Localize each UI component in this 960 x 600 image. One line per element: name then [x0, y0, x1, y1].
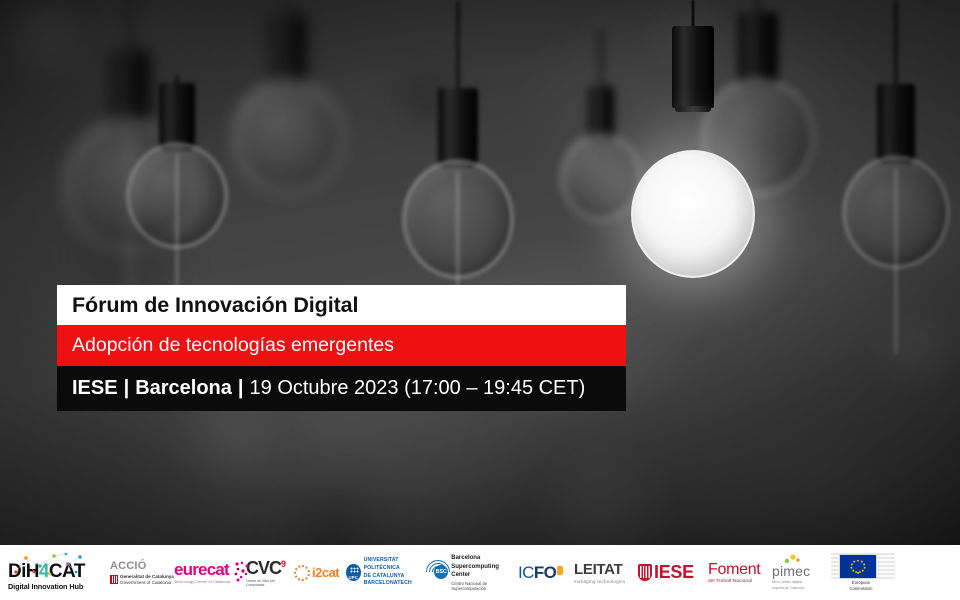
bsc-line1: Barcelona — [451, 554, 518, 562]
bulb-lit — [628, 0, 758, 310]
venue-separator-2: | — [232, 377, 250, 400]
cvc-dots-icon — [234, 561, 252, 583]
upc-badge-icon: UPC — [346, 564, 361, 581]
upc-badge-label: UPC — [346, 575, 361, 580]
bsc-line4: Centro Nacional de Supercomputación — [451, 581, 518, 591]
cvc-superscript: 9 — [281, 559, 285, 569]
logo-dih4cat: DiH4CAT Digital Innovation Hub — [4, 547, 110, 599]
background-photo — [0, 0, 960, 545]
city-name: Barcelona — [135, 377, 232, 400]
accio-line2: Government of Catalonia — [120, 580, 174, 586]
upc-line1: UNIVERSITAT POLITÈCNICA — [364, 557, 426, 572]
pimec-main: pimec — [772, 564, 822, 578]
generalitat-shield-icon — [110, 575, 118, 584]
bsc-line2: Supercomputing — [451, 563, 518, 571]
pimec-dots-icon — [782, 554, 804, 564]
eu-flag-icon — [839, 554, 877, 579]
logo-upc: UPC UNIVERSITAT POLITÈCNICA DE CATALUNYA… — [346, 547, 426, 599]
icfo-photon-icon — [557, 566, 563, 575]
iese-main: IESE — [654, 562, 694, 583]
foment-main: Foment — [708, 562, 772, 578]
leitat-main: LEITAT — [574, 562, 638, 577]
logo-bsc: BSC Barcelona Supercomputing Center Cent… — [426, 547, 518, 599]
foment-tagline: del Treball Nacional — [708, 579, 772, 584]
dih4cat-subtitle: Digital Innovation Hub — [8, 582, 110, 591]
i2cat-main: i2cat — [312, 565, 339, 580]
eurecat-tagline: Technology Centre of Catalonia — [174, 580, 236, 584]
icfo-main-a: IC — [518, 563, 534, 583]
accio-title: ACCIÓ — [110, 560, 174, 572]
upc-line3: BARCELONATECH — [364, 580, 426, 588]
eu-line2: Commission — [849, 586, 872, 592]
logo-leitat: LEITAT managing technologies — [574, 547, 638, 599]
accio-line1: Generalitat de Catalunya — [120, 574, 174, 580]
page-title: Fórum de Innovación Digital — [72, 293, 358, 318]
venue-date-band: IESE | Barcelona | 19 Octubre 2023 (17:0… — [57, 366, 626, 411]
bsc-arcs-icon: BSC — [426, 560, 448, 584]
logo-european-commission: European Commission — [822, 547, 900, 599]
event-datetime: 19 Octubre 2023 (17:00 – 19:45 CET) — [250, 377, 586, 400]
network-constellation-icon — [10, 552, 90, 578]
page-subtitle: Adopción de tecnologías emergentes — [72, 334, 394, 357]
eurecat-main: eureca — [174, 560, 224, 579]
logo-accio: ACCIÓ Generalitat de Catalunya Governmen… — [110, 547, 174, 599]
eurecat-main-accent: t — [224, 560, 229, 579]
logo-foment: Foment del Treball Nacional — [708, 547, 772, 599]
logo-iese: IESE — [638, 547, 708, 599]
bsc-line3: Center — [451, 571, 518, 579]
venue-name: IESE — [72, 377, 118, 400]
logo-i2cat: i2cat — [294, 547, 346, 599]
logo-pimec: pimec Micro, petita i mitjana empresa de… — [772, 547, 822, 599]
event-title-block: Fórum de Innovación Digital Adopción de … — [57, 285, 626, 411]
leitat-tagline: managing technologies — [574, 579, 638, 584]
event-poster: Fórum de Innovación Digital Adopción de … — [0, 0, 960, 600]
subtitle-band: Adopción de tecnologías emergentes — [57, 325, 626, 366]
logo-icfo: IC FO — [518, 547, 574, 599]
i2cat-ring-icon — [294, 565, 310, 581]
logo-cvc: CVC9 Centre de Visió per Computador — [236, 547, 294, 599]
photo-vignette — [0, 0, 960, 545]
pimec-line1: Micro, petita i mitjana — [772, 580, 822, 584]
venue-separator-1: | — [118, 377, 136, 400]
iese-crest-icon — [638, 564, 652, 581]
icfo-main-b: FO — [534, 563, 556, 583]
headline-band: Fórum de Innovación Digital — [57, 285, 626, 325]
sponsor-logo-bar: DiH4CAT Digital Innovation Hub ACCIÓ Gen… — [0, 545, 960, 600]
logo-eurecat: eurecat Technology Centre of Catalonia — [174, 547, 236, 599]
upc-line2: DE CATALUNYA — [364, 573, 426, 581]
pimec-line2: empresa de Catalunya — [772, 586, 822, 590]
